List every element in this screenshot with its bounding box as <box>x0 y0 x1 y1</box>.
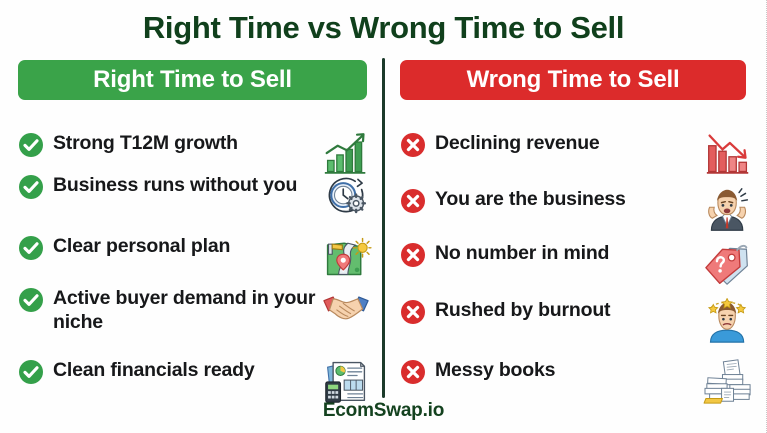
brand-footer: EcomSwap.io <box>0 400 767 422</box>
wrong-time-heading-badge: Wrong Time to Sell <box>400 60 746 100</box>
wrong-time-column: Wrong Time to Sell <box>400 60 758 100</box>
page-title: Right Time vs Wrong Time to Sell <box>0 10 767 46</box>
handshake-icon <box>320 286 376 336</box>
list-item-label: Messy books <box>435 358 698 383</box>
list-item: You are the business <box>400 187 758 237</box>
list-item: Rushed by burnout <box>400 298 758 348</box>
list-item: Business runs without you <box>18 173 376 223</box>
cross-circle-icon <box>400 188 426 214</box>
right-time-column: Right Time to Sell <box>18 60 376 100</box>
list-item: Active buyer demand in your niche <box>18 286 376 336</box>
cross-circle-icon <box>400 132 426 158</box>
list-item-label: Clean financials ready <box>53 358 316 383</box>
burnout-person-icon <box>702 298 758 348</box>
list-item: No number in mind <box>400 241 758 291</box>
check-circle-icon <box>18 132 44 158</box>
list-item-label: Active buyer demand in your niche <box>53 286 316 335</box>
list-item-label: Clear personal plan <box>53 234 316 259</box>
stressed-person-icon <box>702 187 758 237</box>
check-circle-icon <box>18 174 44 200</box>
price-tag-question-icon <box>702 241 758 291</box>
list-item-label: Rushed by burnout <box>435 298 698 323</box>
list-item-label: Business runs without you <box>53 173 316 198</box>
column-divider <box>382 58 385 398</box>
check-circle-icon <box>18 235 44 261</box>
cross-circle-icon <box>400 299 426 325</box>
check-circle-icon <box>18 287 44 313</box>
cross-circle-icon <box>400 242 426 268</box>
cross-circle-icon <box>400 359 426 385</box>
declining-chart-icon <box>702 131 758 181</box>
list-item-label: No number in mind <box>435 241 698 266</box>
list-item: Clear personal plan <box>18 234 376 284</box>
infographic-canvas: Right Time vs Wrong Time to Sell Right T… <box>0 0 767 433</box>
list-item-label: Declining revenue <box>435 131 698 156</box>
list-item: Declining revenue <box>400 131 758 181</box>
check-circle-icon <box>18 359 44 385</box>
list-item-label: Strong T12M growth <box>53 131 316 156</box>
right-time-heading-badge: Right Time to Sell <box>18 60 367 100</box>
roadmap-pin-icon <box>320 234 376 284</box>
list-item-label: You are the business <box>435 187 698 212</box>
clock-gear-icon <box>320 173 376 223</box>
